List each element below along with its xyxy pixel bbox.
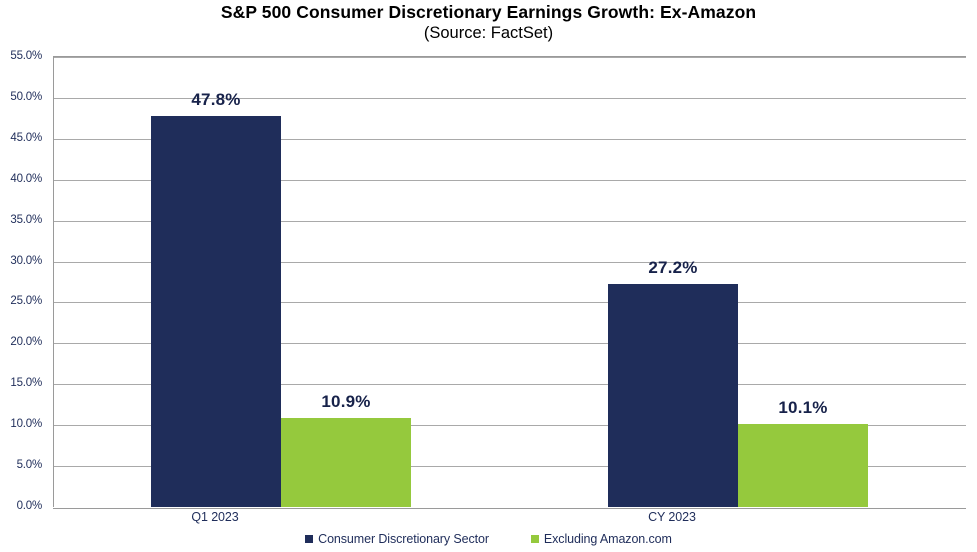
legend-swatch-icon	[305, 535, 313, 543]
y-tick-label: 40.0%	[10, 173, 42, 185]
bar-excluding-amazon-q1-2023[interactable]	[281, 418, 411, 507]
y-tick-label: 5.0%	[17, 459, 42, 471]
y-tick-label: 20.0%	[10, 336, 42, 348]
bar-excluding-amazon-cy-2023[interactable]	[738, 424, 868, 507]
legend-label: Excluding Amazon.com	[544, 532, 672, 546]
legend-item-consumer-discretionary-sector[interactable]: Consumer Discretionary Sector	[305, 532, 489, 546]
chart-container: S&P 500 Consumer Discretionary Earnings …	[0, 0, 977, 552]
bar-value-label: 10.1%	[738, 398, 868, 418]
legend-swatch-icon	[531, 535, 539, 543]
legend-item-excluding-amazon[interactable]: Excluding Amazon.com	[531, 532, 672, 546]
x-category-label: Q1 2023	[150, 510, 280, 524]
bar-consumer-discretionary-sector-cy-2023[interactable]	[608, 284, 738, 507]
y-tick-label: 15.0%	[10, 377, 42, 389]
bar-value-label: 47.8%	[151, 90, 281, 110]
y-axis: 55.0%50.0%45.0%40.0%35.0%30.0%25.0%20.0%…	[0, 56, 48, 506]
bar-value-label: 27.2%	[608, 258, 738, 278]
y-tick-label: 55.0%	[10, 50, 42, 62]
y-tick-label: 0.0%	[17, 500, 42, 512]
y-tick-label: 25.0%	[10, 295, 42, 307]
x-axis: Q1 2023CY 2023	[53, 508, 965, 530]
x-category-label: CY 2023	[607, 510, 737, 524]
y-tick-label: 45.0%	[10, 132, 42, 144]
y-tick-label: 35.0%	[10, 214, 42, 226]
gridline	[54, 57, 966, 58]
y-tick-label: 10.0%	[10, 418, 42, 430]
y-tick-label: 30.0%	[10, 255, 42, 267]
chart-title: S&P 500 Consumer Discretionary Earnings …	[0, 2, 977, 23]
chart-title-block: S&P 500 Consumer Discretionary Earnings …	[0, 2, 977, 44]
bar-consumer-discretionary-sector-q1-2023[interactable]	[151, 116, 281, 507]
legend-label: Consumer Discretionary Sector	[318, 532, 489, 546]
bar-value-label: 10.9%	[281, 392, 411, 412]
plot-area: 47.8%10.9%27.2%10.1%	[53, 56, 966, 507]
y-tick-label: 50.0%	[10, 91, 42, 103]
chart-legend: Consumer Discretionary SectorExcluding A…	[0, 529, 977, 549]
chart-subtitle: (Source: FactSet)	[0, 23, 977, 44]
